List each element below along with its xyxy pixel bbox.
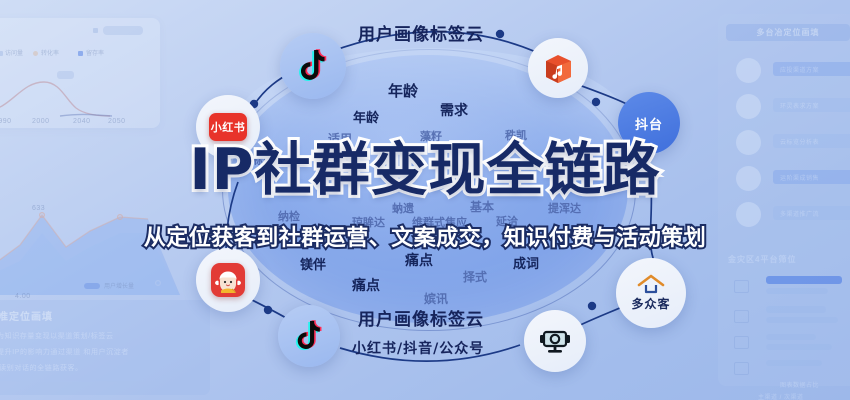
node-music-app[interactable]	[528, 38, 588, 98]
right-bar-1	[773, 62, 850, 76]
legend-label-2: 转化率	[41, 48, 59, 57]
area-peak-label: 633	[32, 205, 45, 212]
node-douyin-top[interactable]	[280, 33, 346, 99]
right-list-bar-1b	[766, 288, 828, 294]
right-bar-label-5: 多渠道推广流	[780, 209, 819, 218]
area-legend-label: 用户增长量	[104, 281, 134, 290]
right-bar-label-4: 运阶渠成销售	[780, 173, 819, 182]
tiktok-icon	[298, 49, 328, 83]
right-panel-title: 多台冶定位画填	[726, 24, 850, 41]
right-panel: 多台冶定位画填 应投渠道方案 环灵表求方案 云标览分析表 运阶渠成销售 多渠道推…	[718, 14, 850, 386]
right-avatar-3	[736, 130, 761, 155]
chart-title-chip-marker	[93, 28, 98, 33]
xiaohongshu-label: 小红书	[211, 119, 246, 135]
tag-word-17: 痛点	[352, 275, 380, 295]
right-list-icon-3	[734, 336, 749, 349]
right-list-icon-2	[734, 310, 749, 323]
right-list-bar-1a	[766, 276, 842, 284]
legend-label-3: 留存率	[86, 48, 104, 57]
x-tick-1: 1990	[0, 118, 12, 125]
legend-marker-2	[33, 51, 38, 56]
node-duozhongke[interactable]: 多众客	[616, 258, 686, 328]
diagram-bottom-caption: 小红书/抖音/公众号	[352, 338, 484, 358]
right-avatar-1	[736, 58, 761, 83]
right-section-title: 金灾区4平台筛位	[728, 254, 796, 265]
right-bar-label-2: 环灵表求方案	[780, 101, 819, 110]
right-bar-label-3: 云标览分析表	[780, 137, 819, 146]
area-value-label: 4.00	[15, 293, 31, 300]
right-panel-footer: 图表数据占比	[780, 380, 819, 389]
right-list-bar-2a	[766, 306, 826, 313]
page-subtitle: 从定位获客到社群运营、文案成交，知识付费与活动策划	[144, 220, 707, 252]
projector-icon	[538, 326, 572, 356]
node-doutai-label: 抖台	[635, 114, 663, 133]
right-list-icon-1	[734, 280, 749, 293]
node-avatar-app[interactable]	[196, 248, 260, 312]
right-bar-2	[773, 98, 850, 112]
right-avatar-5	[736, 202, 761, 227]
x-tick-4: 2050	[108, 118, 126, 125]
x-tick-3: 2040	[73, 118, 91, 125]
node-duozhongke-label: 多众客	[631, 295, 670, 312]
right-list-bar-3b	[766, 344, 832, 350]
legend-marker-3	[78, 51, 83, 56]
tag-word-18: 择式	[463, 268, 487, 285]
right-avatar-4	[736, 166, 761, 191]
right-bar-3	[773, 134, 850, 148]
right-bar-4	[773, 170, 850, 184]
right-list-bar-3a	[766, 334, 816, 340]
tag-word-14: 镁伴	[300, 254, 326, 273]
legend-marker-1	[0, 51, 3, 56]
right-list-bar-2b	[766, 317, 838, 323]
right-avatar-2	[736, 94, 761, 119]
music-box-icon	[540, 50, 576, 86]
legend-label-1: 访问量	[5, 48, 23, 57]
right-bar-5	[773, 206, 850, 220]
right-panel-legend: 主渠道 / 次渠道	[758, 392, 804, 400]
chart-peak-badge	[57, 71, 74, 79]
node-projector[interactable]	[524, 310, 586, 372]
right-panel-header: 多台冶定位画填	[726, 24, 850, 41]
chart-title-chip	[103, 26, 143, 35]
house-icon	[637, 274, 665, 294]
poster-canvas: 访问量 转化率 留存率 1990 2000 2040 2050 63	[0, 0, 850, 400]
x-tick-2: 2000	[32, 118, 50, 125]
tag-word-15: 痛点	[405, 250, 433, 270]
tag-word-1: 年龄	[353, 107, 379, 126]
area-legend-marker	[84, 283, 100, 289]
diagram-top-label: 用户画像标签云	[358, 20, 484, 45]
girl-avatar-icon	[215, 267, 241, 293]
info-row-2: 提升IP的影响力通过渠道 和用户沉淀者	[0, 347, 129, 357]
tag-word-2: 需求	[440, 100, 468, 120]
right-list-icon-4	[734, 362, 749, 375]
right-bar-label-1: 应投渠道方案	[780, 65, 819, 74]
right-list-bar-4a	[766, 360, 822, 366]
node-douyin-bottom[interactable]	[278, 305, 340, 367]
tag-word-0: 年龄	[388, 80, 418, 101]
page-title: IP社群变现全链路	[190, 139, 661, 201]
info-row-3: 本 读别对话的全链路获客。	[0, 363, 83, 373]
info-panel: 职准定位画填 为知识存量变现以渠道策划/标签云 提升IP的影响力通过渠道 和用户…	[0, 300, 210, 395]
avatar-app-icon	[211, 263, 245, 297]
info-row-1: 为知识存量变现以渠道策划/标签云	[0, 331, 114, 341]
tag-word-16: 成词	[513, 253, 539, 272]
diagram-bottom-label: 用户画像标签云	[358, 305, 484, 330]
tiktok-icon	[295, 320, 323, 352]
left-line-chart-card	[0, 18, 160, 128]
info-panel-title: 职准定位画填	[0, 308, 53, 323]
